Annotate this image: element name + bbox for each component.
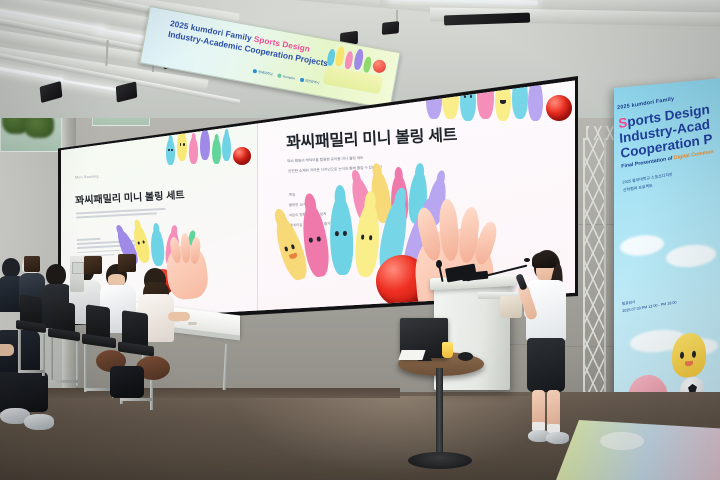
bowling-pin <box>166 139 175 165</box>
slide-eyebrow: Mini Bowling <box>286 100 313 106</box>
screenshot-root: 2025 kumdori Family Sports Design Indust… <box>0 0 720 480</box>
table-base <box>408 452 472 469</box>
wooden-chair-back <box>118 254 136 272</box>
unit-panel <box>72 262 84 274</box>
microphone-head <box>436 260 442 268</box>
presenter-shoe <box>546 432 569 444</box>
bowling-pin <box>212 138 221 164</box>
mascot-yellow <box>672 332 706 379</box>
table-pole <box>436 368 443 460</box>
floor-mat-banner <box>556 420 720 480</box>
bowling-pin <box>495 79 511 121</box>
chair-leg <box>50 338 53 382</box>
bowling-pin <box>329 197 355 276</box>
bowling-ball <box>233 147 251 165</box>
bowling-pin <box>200 129 210 160</box>
bowling-pin <box>460 79 476 121</box>
bowling-pin <box>150 229 166 267</box>
slide-eyebrow: Mini Bowling <box>75 174 99 179</box>
slide-body <box>76 207 172 220</box>
wooden-chair-back <box>84 256 102 274</box>
chair-leg-brace <box>50 380 78 383</box>
slide-title: 꽈씨패밀리 미니 볼링 세트 <box>75 186 185 207</box>
wooden-chair-back <box>24 256 40 272</box>
drink-cup[interactable] <box>442 342 453 358</box>
chair-leg <box>18 330 21 372</box>
floor-baseline <box>0 388 400 398</box>
presenter-bangs <box>532 252 556 268</box>
bowling-pin <box>222 133 231 161</box>
lighting-truss-tower <box>583 138 606 394</box>
person-hand <box>0 344 14 356</box>
person-arm <box>168 312 190 321</box>
person-legs <box>0 372 48 412</box>
ceiling-speaker <box>382 21 399 35</box>
presenter-shorts <box>527 338 565 392</box>
vbanner-date: 발표일시 2025.07.03 PM 12:00 - PM 18:00 <box>622 292 677 314</box>
chair-leg-brace <box>120 398 152 401</box>
slide-title: 꽈씨패밀리 미니 볼링 세트 <box>286 121 458 153</box>
chair-leg-brace <box>18 370 44 373</box>
bowling-pin <box>477 79 494 119</box>
floor-reflection <box>230 396 560 476</box>
bag <box>110 366 144 398</box>
pen <box>188 322 197 325</box>
person-head <box>46 264 66 286</box>
bowling-pin <box>189 137 198 164</box>
chair-leg <box>84 344 87 392</box>
bowling-pin <box>177 131 187 161</box>
bowling-ball <box>546 95 572 121</box>
bowling-pin <box>442 79 459 119</box>
mat-graphic <box>600 432 644 450</box>
mouse[interactable] <box>458 352 473 361</box>
person-head <box>2 258 20 278</box>
person-shoe <box>24 414 54 430</box>
paper-sheet <box>398 350 425 360</box>
presenter <box>516 250 574 456</box>
